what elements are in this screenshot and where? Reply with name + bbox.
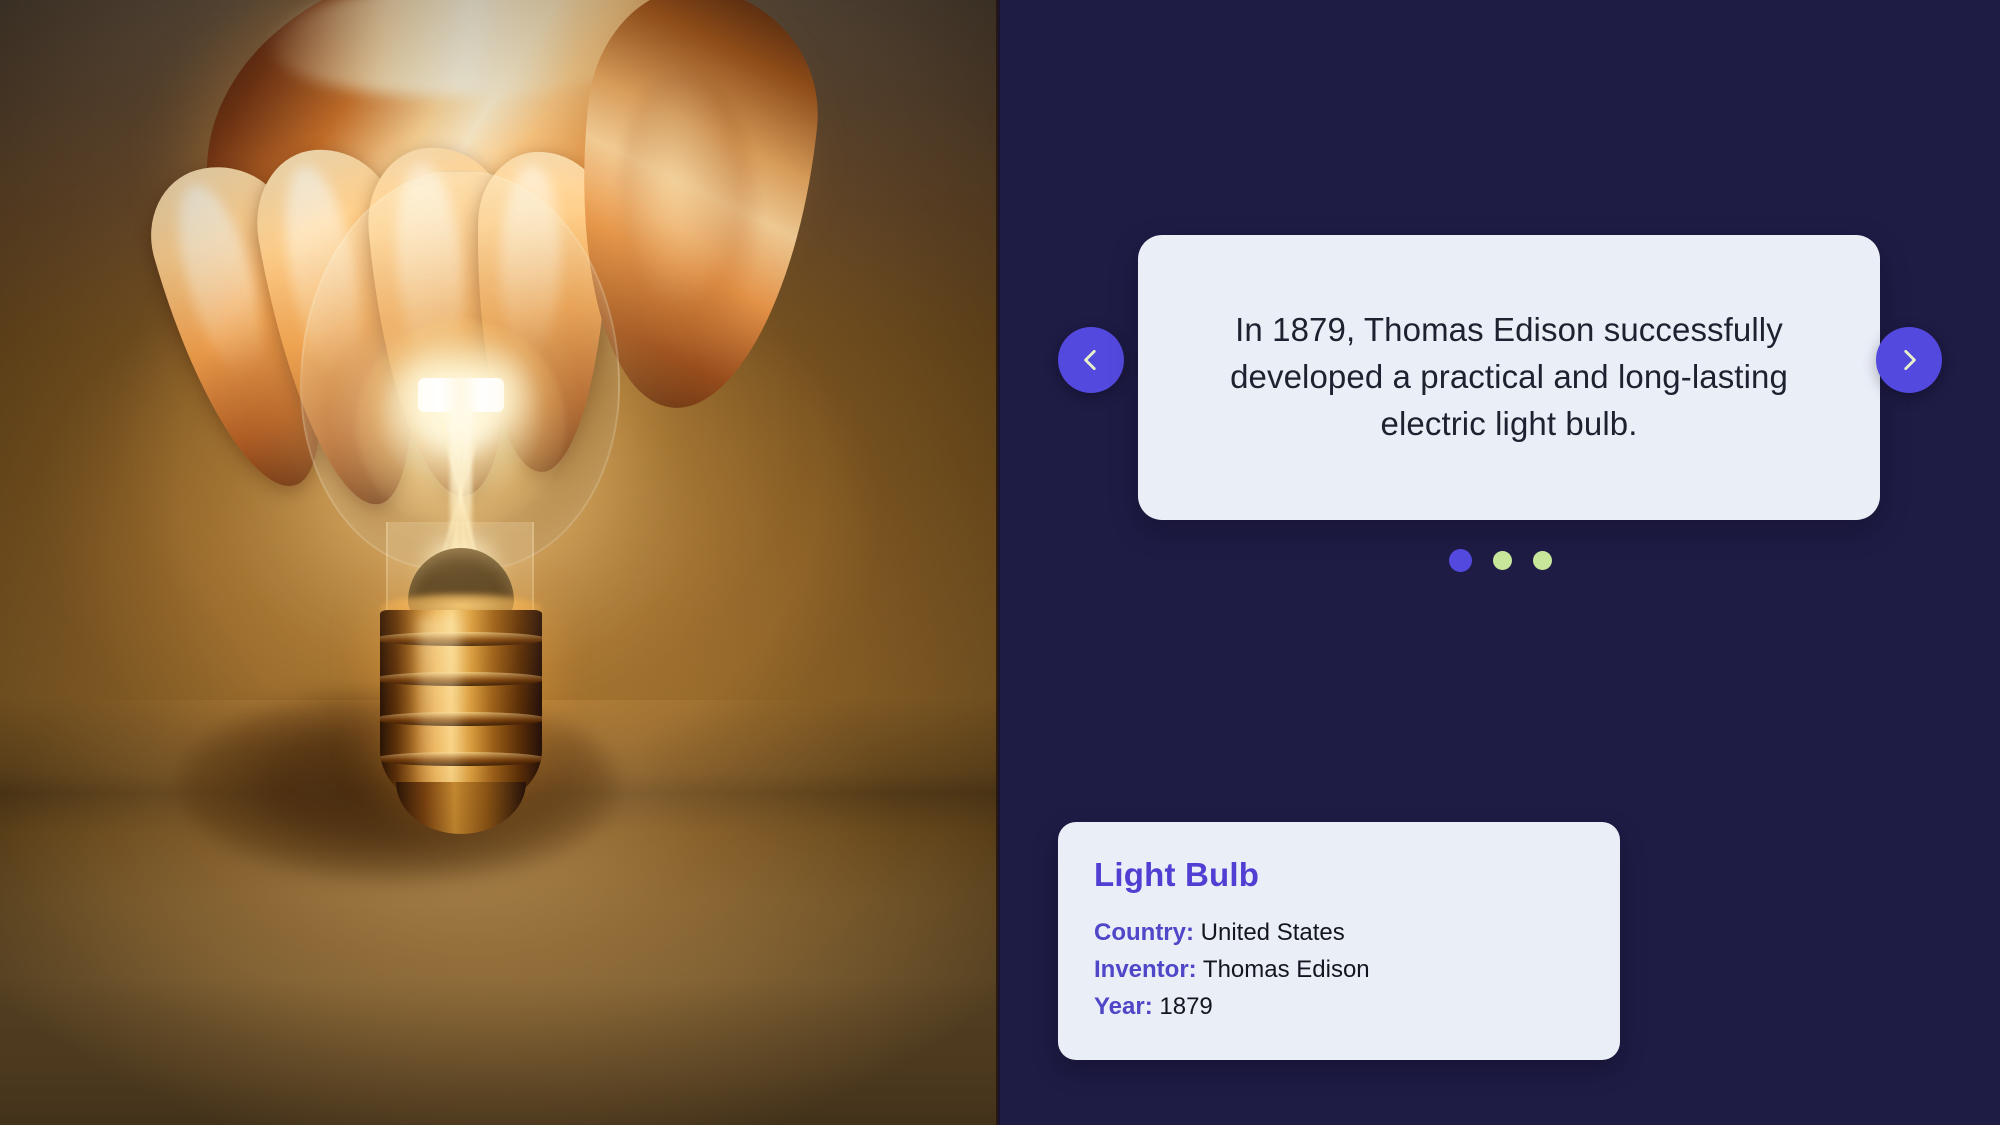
info-value-year: 1879	[1159, 993, 1212, 1020]
carousel-prev-button[interactable]	[1058, 327, 1124, 393]
info-row-country: Country: United States	[1094, 916, 1584, 949]
invention-info-card: Light Bulb Country: United States Invent…	[1058, 822, 1620, 1060]
panel-divider	[996, 0, 1000, 1125]
hero-photo	[0, 0, 998, 1125]
fact-quote-card: In 1879, Thomas Edison successfully deve…	[1138, 235, 1880, 520]
app-root: In 1879, Thomas Edison successfully deve…	[0, 0, 2000, 1125]
info-label-country: Country:	[1094, 919, 1194, 946]
invention-title: Light Bulb	[1094, 856, 1584, 894]
chevron-right-icon	[1896, 347, 1922, 373]
carousel-dot-1[interactable]	[1449, 549, 1472, 572]
chevron-left-icon	[1078, 347, 1104, 373]
photo-vignette	[0, 0, 998, 1125]
carousel-next-button[interactable]	[1876, 327, 1942, 393]
carousel-dot-3[interactable]	[1533, 551, 1552, 570]
fact-carousel: In 1879, Thomas Edison successfully deve…	[1058, 235, 1942, 525]
info-label-year: Year:	[1094, 993, 1153, 1020]
info-row-year: Year: 1879	[1094, 990, 1584, 1023]
carousel-pagination	[1058, 545, 1942, 575]
info-row-inventor: Inventor: Thomas Edison	[1094, 953, 1584, 986]
carousel-dot-2[interactable]	[1493, 551, 1512, 570]
info-label-inventor: Inventor:	[1094, 956, 1197, 983]
info-value-country: United States	[1201, 919, 1345, 946]
info-value-inventor: Thomas Edison	[1203, 956, 1370, 983]
fact-quote-text: In 1879, Thomas Edison successfully deve…	[1194, 307, 1824, 448]
